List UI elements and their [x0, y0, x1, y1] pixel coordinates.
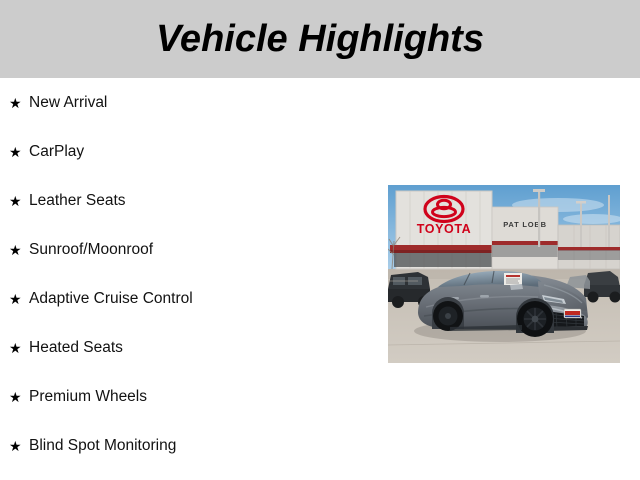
list-item-label: Blind Spot Monitoring: [29, 438, 176, 454]
star-icon: ★: [9, 390, 29, 404]
list-item: ★ Adaptive Cruise Control: [0, 274, 370, 323]
star-icon: ★: [9, 96, 29, 110]
star-icon: ★: [9, 194, 29, 208]
page-header: Vehicle Highlights: [0, 0, 640, 78]
star-icon: ★: [9, 341, 29, 355]
vehicle-highlights-list: ★ New Arrival ★ CarPlay ★ Leather Seats …: [0, 78, 370, 470]
content-area: ★ New Arrival ★ CarPlay ★ Leather Seats …: [0, 78, 640, 480]
list-item: ★ Premium Wheels: [0, 372, 370, 421]
list-item-label: New Arrival: [29, 95, 107, 111]
star-icon: ★: [9, 243, 29, 257]
list-item-label: Premium Wheels: [29, 389, 147, 405]
list-item: ★ Blind Spot Monitoring: [0, 421, 370, 470]
star-icon: ★: [9, 145, 29, 159]
list-item: ★ Sunroof/Moonroof: [0, 225, 370, 274]
list-item: ★ Leather Seats: [0, 176, 370, 225]
list-item-label: CarPlay: [29, 144, 84, 160]
vehicle-photo: TOYOTA PAT LOBB: [388, 185, 620, 363]
list-item: ★ Heated Seats: [0, 323, 370, 372]
list-item-label: Leather Seats: [29, 193, 126, 209]
page-title: Vehicle Highlights: [156, 20, 484, 58]
star-icon: ★: [9, 439, 29, 453]
list-item-label: Adaptive Cruise Control: [29, 291, 193, 307]
star-icon: ★: [9, 292, 29, 306]
list-item-label: Sunroof/Moonroof: [29, 242, 153, 258]
list-item-label: Heated Seats: [29, 340, 123, 356]
svg-text:PAT LOBB: PAT LOBB: [503, 220, 547, 229]
list-item: ★ CarPlay: [0, 127, 370, 176]
list-item: ★ New Arrival: [0, 78, 370, 127]
svg-text:TOYOTA: TOYOTA: [417, 222, 472, 236]
